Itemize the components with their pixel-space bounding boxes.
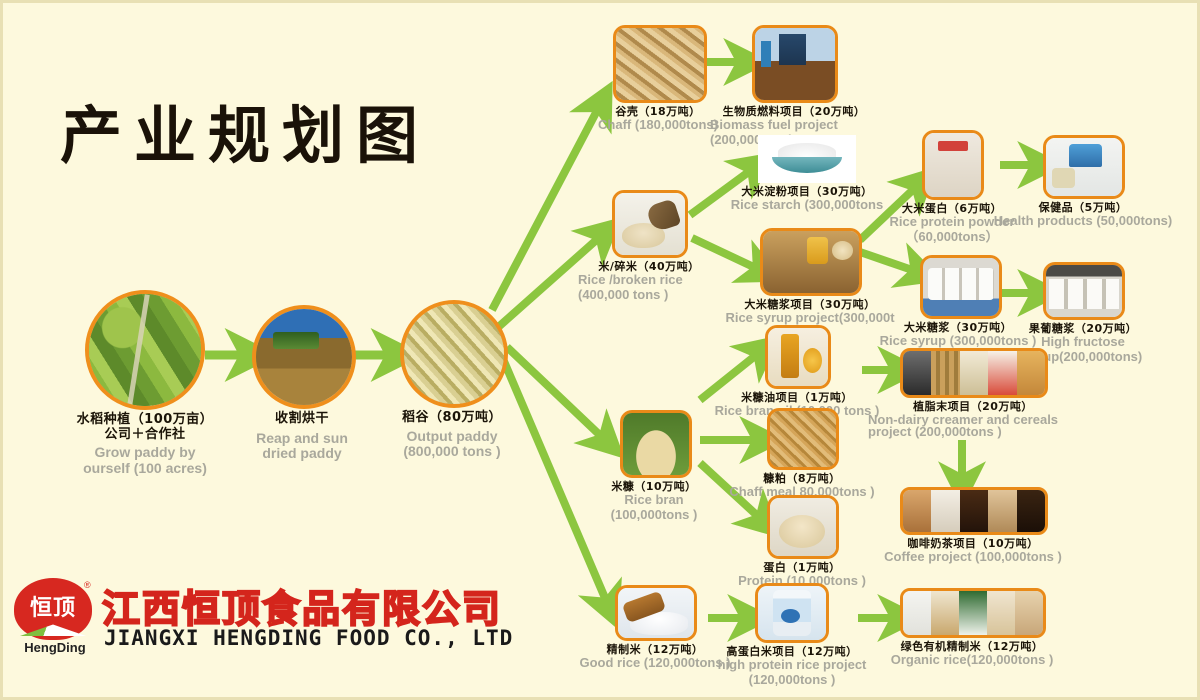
page-title: 产业规划图 bbox=[60, 85, 430, 175]
node-label-en: Rice /broken rice bbox=[574, 273, 724, 288]
node-reap-dry[interactable]: 收割烘干 Reap and sun dried paddy bbox=[252, 305, 352, 462]
node-label-cn: 稻谷（80万吨） bbox=[372, 411, 532, 426]
registered-trademark-icon: ® bbox=[84, 580, 91, 590]
node-photo-grow-paddy bbox=[85, 290, 205, 410]
node-photo-protein bbox=[767, 495, 839, 559]
node-bran-oil[interactable]: 米糠油项目（1万吨） Rice bran oil (10,000 tons ) bbox=[765, 325, 829, 419]
node-rice-bran[interactable]: 米糠（10万吨） Rice bran (100,000tons ) bbox=[620, 410, 690, 522]
company-logo: 恒顶 ® HengDing 江西恒顶食品有限公司 JIANGXI HENGDIN… bbox=[14, 578, 514, 658]
node-photo-bran-oil bbox=[765, 325, 831, 389]
node-photo-fructose-syrup bbox=[1043, 262, 1125, 320]
node-biomass[interactable]: 生物质燃料项目（20万吨） Biomass fuel project (200,… bbox=[752, 25, 836, 147]
node-photo-reap-dry bbox=[252, 305, 356, 409]
node-label-en2: (100,000tons ) bbox=[584, 508, 724, 523]
node-label-cn: 收割烘干 bbox=[227, 412, 377, 427]
node-label-en: Coffee project (100,000tons ) bbox=[873, 550, 1073, 565]
brand-mark-icon: 恒顶 bbox=[14, 578, 92, 640]
node-photo-chaff bbox=[613, 25, 707, 103]
node-label-en: Reap and sun bbox=[227, 431, 377, 447]
node-creamer[interactable]: 植脂末项目（20万吨） Non-dairy creamer and cereal… bbox=[900, 348, 1046, 439]
node-label-en2: (400,000 tons ) bbox=[574, 288, 724, 303]
node-label-en2: ourself (100 acres) bbox=[55, 461, 235, 477]
node-photo-creamer bbox=[900, 348, 1048, 398]
node-photo-output-paddy bbox=[400, 300, 508, 408]
node-fructose-syrup[interactable]: 果葡糖浆（20万吨） High fructose syrup(200,000to… bbox=[1043, 262, 1123, 364]
node-rice-syrup-project[interactable]: 大米糖浆项目（30万吨） Rice syrup project(300,000t bbox=[760, 228, 860, 326]
brand-mark-cn: 恒顶 bbox=[14, 590, 92, 622]
node-label-en: Organic rice(120,000tons ) bbox=[872, 653, 1072, 668]
node-photo-rice-protein bbox=[922, 130, 984, 200]
node-photo-coffee bbox=[900, 487, 1048, 535]
node-high-protein-rice[interactable]: 高蛋白米项目（12万吨） high protein rice project (… bbox=[755, 583, 827, 687]
node-label-en: Biomass fuel project bbox=[704, 118, 884, 133]
node-rice-starch[interactable]: 大米淀粉项目（30万吨） Rice starch (300,000tons bbox=[757, 135, 857, 213]
node-protein[interactable]: 蛋白（1万吨） Protein (10,000tons ) bbox=[767, 495, 837, 589]
node-photo-high-protein-rice bbox=[755, 583, 829, 643]
node-label-en2: (800,000 tons ) bbox=[372, 444, 532, 460]
node-photo-good-rice bbox=[615, 585, 697, 641]
node-photo-health-products bbox=[1043, 135, 1125, 199]
node-photo-rice-bran bbox=[620, 410, 692, 478]
node-rice-protein[interactable]: 大米蛋白（6万吨） Rice protein powder （60,000ton… bbox=[922, 130, 982, 244]
node-photo-rice-broken bbox=[612, 190, 688, 258]
node-photo-rice-syrup bbox=[920, 255, 1002, 319]
node-chaff[interactable]: 谷壳（18万吨） Chaff (180,000tons) bbox=[613, 25, 705, 133]
node-label-cn: 水稻种植（100万亩） bbox=[55, 413, 235, 428]
node-label-en: Output paddy bbox=[372, 429, 532, 445]
node-chaff-meal[interactable]: 糠粕（8万吨） Chaff meal 80,000tons ) bbox=[767, 408, 837, 500]
node-photo-organic-rice bbox=[900, 588, 1046, 638]
node-label-en: high protein rice project bbox=[697, 658, 887, 673]
node-photo-rice-starch bbox=[758, 135, 856, 183]
node-label-en2: （60,000tons） bbox=[872, 230, 1032, 245]
node-label-cn2: 公司＋合作社 bbox=[55, 428, 235, 443]
node-photo-biomass bbox=[752, 25, 838, 103]
node-good-rice[interactable]: 精制米（12万吨） Good rice (120,000tons ) bbox=[615, 585, 695, 671]
node-rice-broken[interactable]: 米/碎米（40万吨） Rice /broken rice (400,000 to… bbox=[612, 190, 686, 302]
node-photo-chaff-meal bbox=[767, 408, 839, 470]
node-label-en: Health products (50,000tons) bbox=[988, 214, 1178, 229]
node-output-paddy[interactable]: 稻谷（80万吨） Output paddy (800,000 tons ) bbox=[400, 300, 504, 460]
node-label-en2: dried paddy bbox=[227, 446, 377, 462]
company-name-en: JIANGXI HENGDING FOOD CO., LTD bbox=[104, 626, 513, 650]
node-label-en2: (120,000tons ) bbox=[697, 673, 887, 688]
node-organic-rice[interactable]: 绿色有机精制米（12万吨） Organic rice(120,000tons ) bbox=[900, 588, 1044, 668]
node-label-en: Grow paddy by bbox=[55, 445, 235, 461]
company-name-cn: 江西恒顶食品有限公司 bbox=[102, 578, 502, 633]
node-grow-paddy[interactable]: 水稻种植（100万亩） 公司＋合作社 Grow paddy by ourself… bbox=[85, 290, 205, 476]
node-photo-rice-syrup-project bbox=[760, 228, 862, 296]
node-label-en: Rice bran bbox=[584, 493, 724, 508]
node-coffee[interactable]: 咖啡奶茶项目（10万吨） Coffee project (100,000tons… bbox=[900, 487, 1046, 565]
node-health-products[interactable]: 保健品（5万吨） Health products (50,000tons) bbox=[1043, 135, 1123, 229]
brand-mark-sub: HengDing bbox=[14, 640, 96, 655]
